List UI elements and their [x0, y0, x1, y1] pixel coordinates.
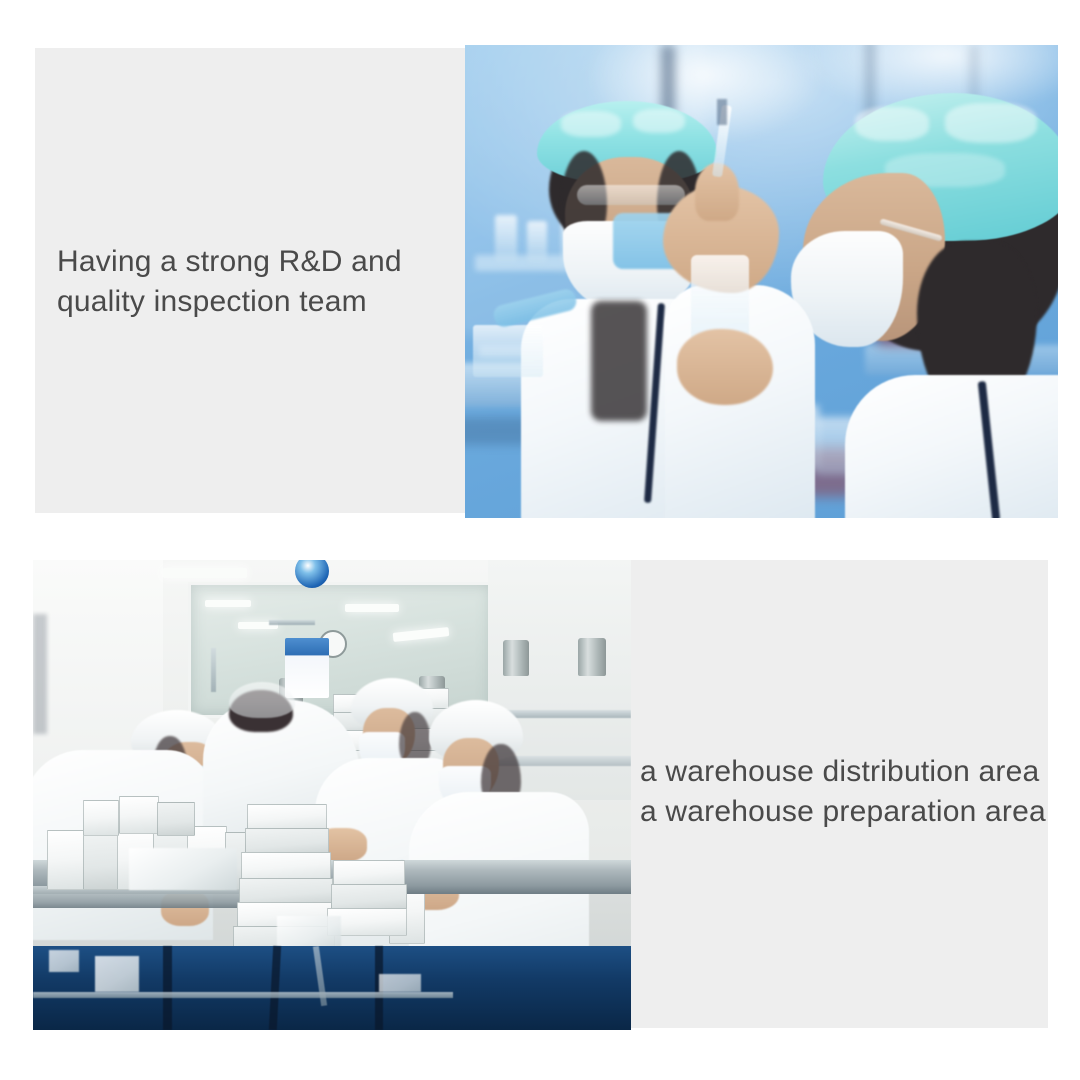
warehouse-packing-photo	[33, 560, 631, 1030]
warehouse-caption-line-2: a warehouse preparation area	[640, 792, 1046, 832]
rnd-quality-caption-line-1: Having a strong R&D and	[57, 242, 402, 282]
warehouse-caption: a warehouse distribution area a warehous…	[640, 752, 1046, 832]
poster-page: Having a strong R&D and quality inspecti…	[0, 0, 1080, 1080]
lab-quality-inspection-photo	[465, 45, 1058, 518]
rnd-quality-caption-line-2: quality inspection team	[57, 282, 402, 322]
rnd-quality-caption: Having a strong R&D and quality inspecti…	[57, 242, 402, 322]
warehouse-caption-line-1: a warehouse distribution area	[640, 752, 1046, 792]
